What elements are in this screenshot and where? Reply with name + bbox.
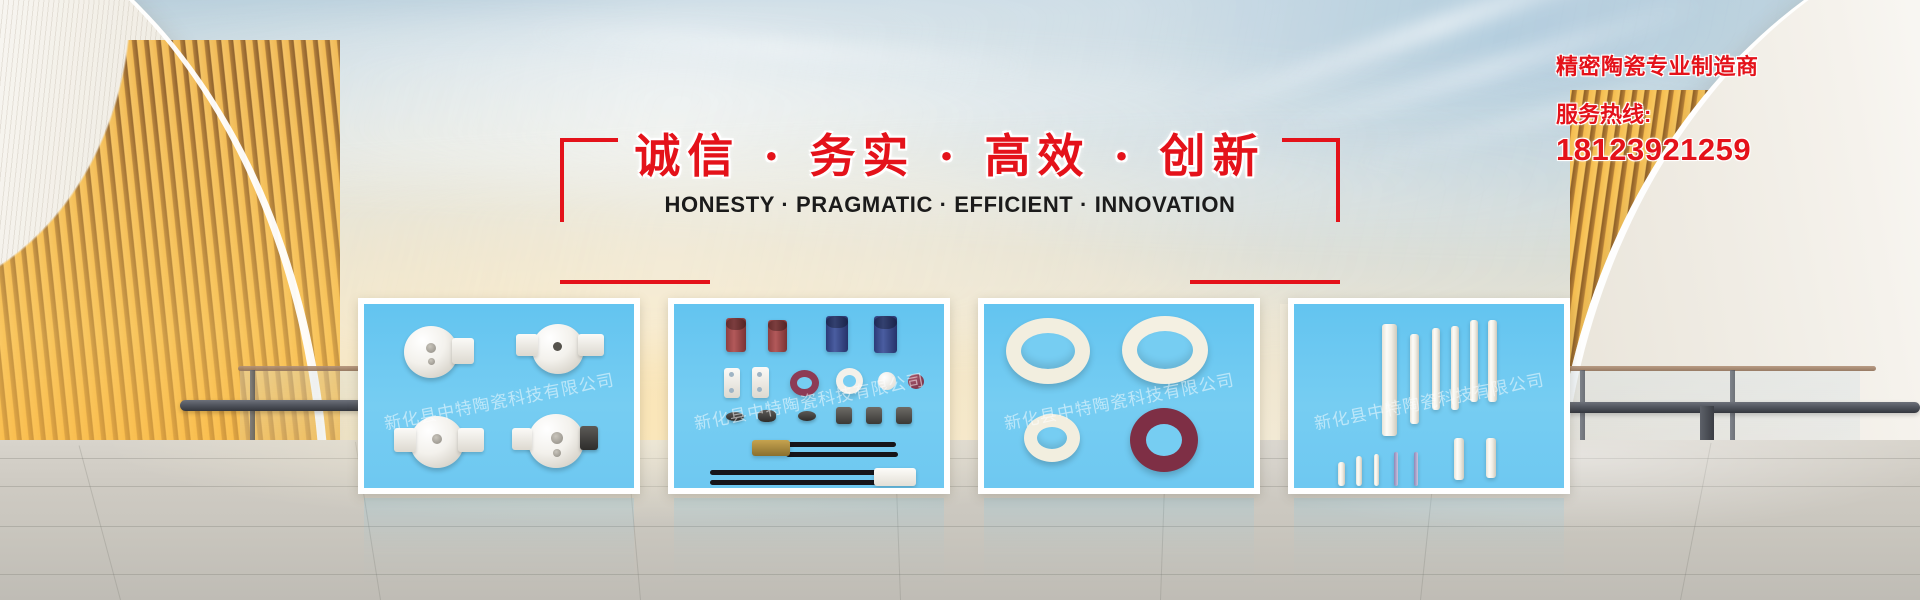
panel-reflection <box>978 498 1260 590</box>
socket-tab <box>452 338 474 364</box>
ceramic-tube-blue <box>874 316 897 353</box>
ceramic-ring-large <box>1006 318 1090 384</box>
watermark-text: 新化县中特陶瓷科技有限公司 <box>1312 365 1546 434</box>
company-slogan-block: 诚信 · 务实 · 高效 · 创新 HONESTY · PRAGMATIC · … <box>560 120 1340 240</box>
ceramic-rod <box>1432 328 1440 410</box>
panel-reflection <box>358 498 640 590</box>
ceramic-tube-blue <box>826 316 848 352</box>
ceramic-pin <box>1338 462 1345 486</box>
connector-wire <box>710 480 882 485</box>
ceramic-socket <box>532 324 584 374</box>
slogan-english: HONESTY · PRAGMATIC · EFFICIENT · INNOVA… <box>560 192 1340 218</box>
socket-contact-pin <box>580 426 598 450</box>
product-panel-ceramic-lamp-sockets[interactable]: 新化县中特陶瓷科技有限公司 <box>358 298 640 494</box>
ceramic-contact-clip <box>726 412 744 421</box>
socket-tab <box>458 428 484 452</box>
ceramic-tube-red <box>726 318 746 352</box>
ceramic-pin-violet <box>1394 452 1398 486</box>
ceramic-pin <box>1374 454 1379 486</box>
socket-tab <box>512 428 532 450</box>
product-panel-ceramic-rings[interactable]: 新化县中特陶瓷科技有限公司 <box>978 298 1260 494</box>
metal-terminal <box>836 407 852 424</box>
panel-reflection <box>668 498 950 590</box>
ceramic-ring-small <box>1024 414 1080 462</box>
socket-tab <box>394 428 416 452</box>
ceramic-pin-violet <box>1414 452 1418 486</box>
ceramic-ring-maroon <box>790 370 819 396</box>
ceramic-ring-large <box>1122 316 1208 384</box>
ceramic-rod <box>1382 324 1397 436</box>
ceramic-rod <box>1470 320 1478 402</box>
ceramic-cap-white <box>878 372 896 390</box>
ceramic-plate-insulator <box>752 367 769 398</box>
company-tagline: 精密陶瓷专业制造商 <box>1556 52 1886 82</box>
ceramic-rod-short <box>1486 438 1496 478</box>
slogan-chinese: 诚信 · 务实 · 高效 · 创新 <box>560 120 1340 186</box>
ceramic-contact-clip <box>758 410 776 422</box>
product-panel-ceramic-tubes-connectors[interactable]: 新化县中特陶瓷科技有限公司 <box>668 298 950 494</box>
hotline-number[interactable]: 18123921259 <box>1556 130 1886 170</box>
ceramic-rod <box>1451 326 1459 410</box>
ceramic-cap-maroon <box>908 374 924 389</box>
metal-terminal <box>896 407 912 424</box>
ceramic-plate-insulator <box>724 368 740 398</box>
hotline-label: 服务热线: <box>1556 100 1886 130</box>
ceramic-rod <box>1488 320 1497 402</box>
promotional-banner: 新化县中特陶瓷科技有限公司 <box>0 0 1920 600</box>
product-showcase-panels: 新化县中特陶瓷科技有限公司 <box>358 298 1570 498</box>
ceramic-contact-clip <box>798 411 816 421</box>
connector-wire <box>786 452 898 457</box>
connector-housing <box>752 440 790 456</box>
ceramic-socket <box>404 326 458 378</box>
ceramic-pin <box>1356 456 1362 486</box>
contact-info-block: 精密陶瓷专业制造商 服务热线: 18123921259 <box>1556 52 1886 170</box>
ceramic-tube-red <box>768 320 787 352</box>
connector-wire <box>786 442 896 447</box>
ceramic-ring-white <box>836 368 863 394</box>
connector-wire <box>710 470 880 475</box>
ceramic-rod-short <box>1454 438 1464 480</box>
socket-tab <box>578 334 604 356</box>
ceramic-rod <box>1410 334 1419 424</box>
ceramic-socket <box>528 414 584 468</box>
ceramic-ring-maroon <box>1130 408 1198 472</box>
socket-tab <box>516 334 538 356</box>
metal-terminal <box>866 407 882 424</box>
ceramic-socket <box>410 416 464 468</box>
product-panel-ceramic-rods[interactable]: 新化县中特陶瓷科技有限公司 <box>1288 298 1570 494</box>
panel-reflection <box>1288 498 1570 590</box>
handrail <box>1556 366 1876 371</box>
connector-housing <box>874 468 916 486</box>
